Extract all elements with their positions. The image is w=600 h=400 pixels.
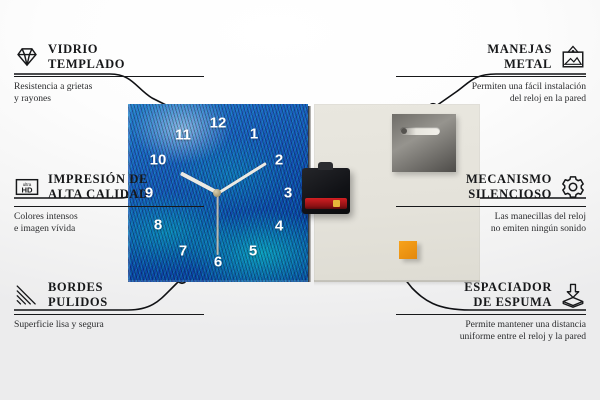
feature-title-line1: MECANISMO <box>466 172 552 187</box>
clock-numeral-10: 10 <box>150 153 167 168</box>
feature-subtitle: Permite mantener una distancia uniforme … <box>396 319 586 344</box>
feature-subtitle: Permiten una fácil instalación del reloj… <box>396 81 586 106</box>
feature-title-line1: ESPACIADOR <box>464 280 552 295</box>
feature-subtitle: Colores intensos e imagen vívida <box>14 211 204 236</box>
metal-hanger-plate <box>392 114 456 172</box>
arrow-down-stack-icon <box>560 282 586 308</box>
feature-title-line2: PULIDOS <box>48 295 108 310</box>
feature-title-line2: SILENCIOSO <box>466 187 552 202</box>
mechanism-shaft <box>318 162 333 170</box>
hanger-keyhole-slot <box>400 127 440 135</box>
polished-edges-icon <box>14 282 40 308</box>
silent-clock-mechanism <box>302 168 350 214</box>
clock-numeral-3: 3 <box>284 186 292 201</box>
feature-title-line1: VIDRIO <box>48 42 125 57</box>
feature-title-line2: DE ESPUMA <box>464 295 552 310</box>
feature-divider <box>14 314 204 315</box>
feature-divider <box>396 314 586 315</box>
feature-espaciador-de-espuma: ESPACIADOR DE ESPUMA Permite mantener un… <box>396 280 586 343</box>
clock-numeral-1: 1 <box>250 127 258 142</box>
clock-numeral-7: 7 <box>179 244 187 259</box>
feature-divider <box>14 206 204 207</box>
foam-spacer <box>399 241 417 259</box>
wall-mount-icon <box>560 44 586 70</box>
feature-title-line1: MANEJAS <box>487 42 552 57</box>
feature-vidrio-templado: VIDRIO TEMPLADO Resistencia a grietas y … <box>14 42 204 105</box>
feature-manejas-metal: MANEJAS METAL Permiten una fácil instala… <box>396 42 586 105</box>
feature-subtitle: Superficie lisa y segura <box>14 319 204 331</box>
feature-divider <box>14 76 204 77</box>
clock-numeral-8: 8 <box>154 218 162 233</box>
feature-impresion-alta-calidad: ultra HD IMPRESIÓN DE ALTA CALIDAD Color… <box>14 172 204 235</box>
gear-icon <box>560 174 586 200</box>
feature-subtitle: Las manecillas del reloj no emiten ningú… <box>396 211 586 236</box>
diamond-icon <box>14 44 40 70</box>
feature-bordes-pulidos: BORDES PULIDOS Superficie lisa y segura <box>14 280 204 331</box>
clock-minute-hand <box>217 162 266 194</box>
clock-numeral-6: 6 <box>214 255 222 270</box>
infographic-canvas: 12 1 2 3 4 5 6 7 8 9 10 11 <box>0 0 600 400</box>
clock-numeral-9: 9 <box>145 186 153 201</box>
battery <box>305 198 347 209</box>
clock-numeral-12: 12 <box>210 116 227 131</box>
clock-numeral-4: 4 <box>275 219 283 234</box>
feature-divider <box>396 76 586 77</box>
svg-text:HD: HD <box>21 185 33 194</box>
feature-title-line2: TEMPLADO <box>48 57 125 72</box>
feature-title-line1: IMPRESIÓN DE <box>48 172 149 187</box>
ultra-hd-icon: ultra HD <box>14 174 40 200</box>
feature-divider <box>396 206 586 207</box>
clock-second-hand <box>217 193 219 255</box>
clock-center-cap <box>213 189 221 197</box>
clock-numeral-11: 11 <box>175 128 191 143</box>
feature-title-line2: ALTA CALIDAD <box>48 187 149 202</box>
clock-numeral-5: 5 <box>249 244 257 259</box>
feature-subtitle: Resistencia a grietas y rayones <box>14 81 204 106</box>
feature-mecanismo-silencioso: MECANISMO SILENCIOSO Las manecillas del … <box>396 172 586 235</box>
feature-title-line1: BORDES <box>48 280 108 295</box>
clock-numeral-2: 2 <box>275 153 283 168</box>
feature-title-line2: METAL <box>487 57 552 72</box>
